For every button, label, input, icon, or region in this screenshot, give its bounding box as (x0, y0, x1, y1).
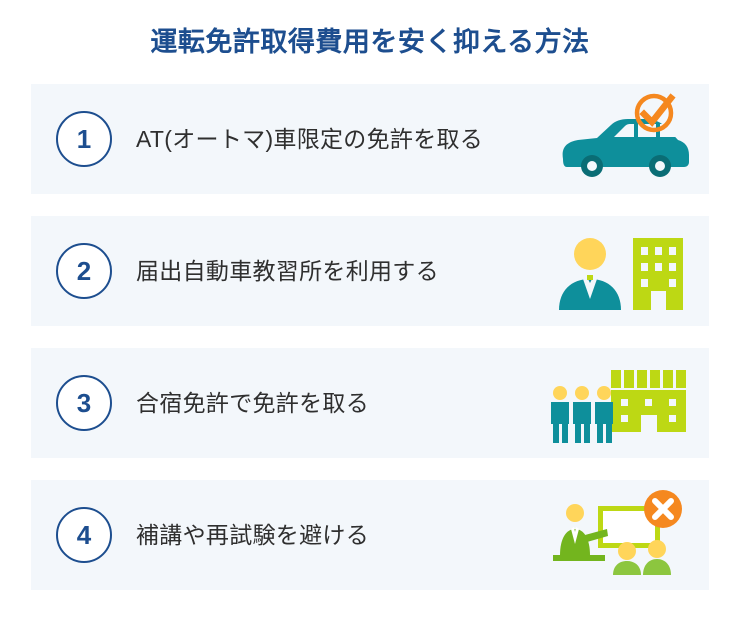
list-item[interactable]: 1 AT(オートマ)車限定の免許を取る (31, 84, 709, 194)
list-item[interactable]: 3 合宿免許で免許を取る (31, 348, 709, 458)
step-number-badge: 2 (56, 243, 112, 299)
step-number-badge: 3 (56, 375, 112, 431)
step-number-badge: 4 (56, 507, 112, 563)
list-item-label: 補講や再試験を避ける (136, 519, 369, 551)
list-item-label: 届出自動車教習所を利用する (136, 255, 439, 287)
step-number-badge: 1 (56, 111, 112, 167)
car-with-check-icon (545, 93, 695, 185)
list-item[interactable]: 4 補講や再試験を避ける (31, 480, 709, 590)
infographic-page: 運転免許取得費用を安く抑える方法 1 AT(オートマ)車限定の免許を取る (0, 0, 740, 620)
page-title: 運転免許取得費用を安く抑える方法 (0, 22, 740, 62)
tips-list: 1 AT(オートマ)車限定の免許を取る (31, 84, 709, 612)
person-and-building-icon (545, 225, 695, 317)
list-item[interactable]: 2 届出自動車教習所を利用する (31, 216, 709, 326)
group-and-lodging-icon (545, 357, 695, 449)
list-item-label: AT(オートマ)車限定の免許を取る (136, 123, 483, 155)
classroom-with-cross-icon (545, 489, 695, 581)
list-item-label: 合宿免許で免許を取る (136, 387, 369, 419)
